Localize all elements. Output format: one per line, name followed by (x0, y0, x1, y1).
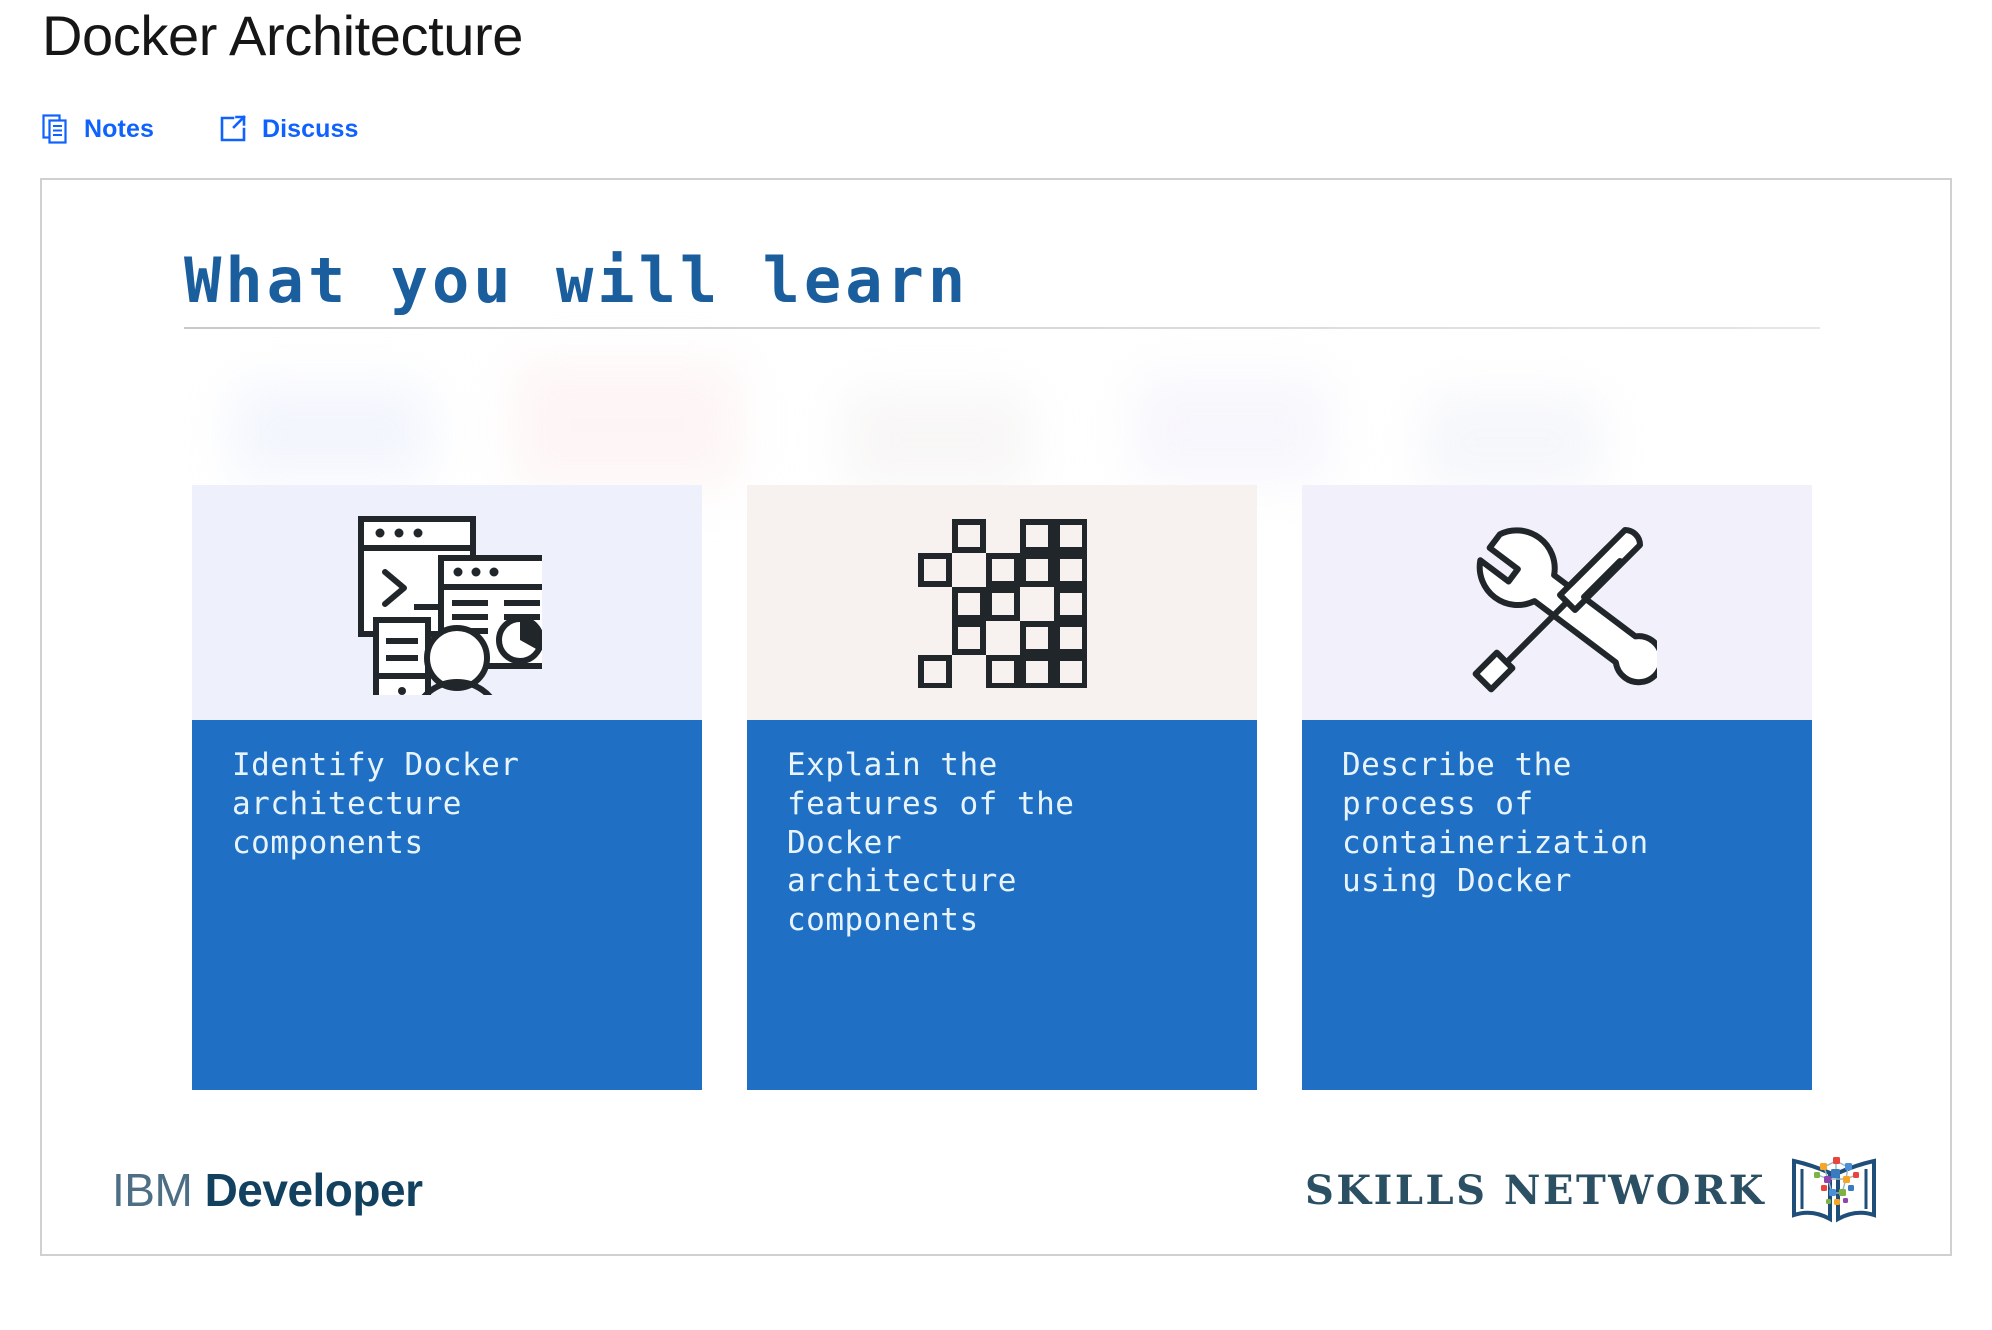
external-link-icon (218, 114, 248, 144)
slide-heading-block: What you will learn (184, 248, 1824, 329)
backdrop-blob (1422, 395, 1602, 490)
ibm-logo-word: Developer (205, 1164, 423, 1216)
slide-viewer[interactable]: What you will learn (40, 178, 1952, 1256)
slide-footer: IBM Developer SKILLS NETWORK (42, 1150, 1950, 1230)
notes-link[interactable]: Notes (42, 114, 154, 144)
ibm-developer-logo: IBM Developer (112, 1163, 423, 1217)
objective-card-text: Explain the features of the Docker archi… (787, 746, 1223, 940)
backdrop-blob (512, 360, 742, 490)
backdrop-blob (232, 385, 432, 480)
objective-card-icon-area (192, 485, 702, 720)
notes-link-label: Notes (84, 115, 154, 144)
ibm-logo-mark: IBM (112, 1164, 192, 1216)
objective-card: Explain the features of the Docker archi… (747, 485, 1257, 1090)
slide-content: What you will learn (42, 180, 1950, 1254)
objective-card: Describe the process of containerization… (1302, 485, 1812, 1090)
skills-network-logo: SKILLS NETWORK (1305, 1151, 1880, 1229)
discuss-link-label: Discuss (262, 115, 359, 144)
objective-card: Identify Docker architecture components (192, 485, 702, 1090)
objective-card-body: Describe the process of containerization… (1302, 720, 1812, 1090)
discuss-link[interactable]: Discuss (218, 114, 359, 144)
action-bar: Notes Discuss (40, 112, 1952, 146)
objective-card-icon-area (1302, 485, 1812, 720)
skills-network-wordmark: SKILLS NETWORK (1305, 1167, 1766, 1214)
notes-icon (42, 114, 70, 144)
objective-card-icon-area (747, 485, 1257, 720)
slide-heading: What you will learn (184, 248, 1824, 313)
objective-card-text: Describe the process of containerization… (1342, 746, 1778, 901)
backdrop-blob (1132, 375, 1332, 485)
open-book-icon (1788, 1151, 1880, 1229)
objective-card-body: Identify Docker architecture components (192, 720, 702, 1090)
developer-workstation-icon (352, 510, 542, 695)
objective-card-body: Explain the features of the Docker archi… (747, 720, 1257, 1090)
learning-objectives-list: Identify Docker architecture components (192, 485, 1812, 1090)
lesson-page: Docker Architecture Notes (0, 0, 1992, 1330)
objective-card-text: Identify Docker architecture components (232, 746, 668, 862)
backdrop-blob (842, 390, 1032, 490)
page-title: Docker Architecture (40, 0, 1952, 64)
qr-code-blocks-icon (917, 518, 1087, 688)
wrench-screwdriver-icon (1457, 508, 1657, 698)
slide-heading-divider (184, 327, 1820, 329)
